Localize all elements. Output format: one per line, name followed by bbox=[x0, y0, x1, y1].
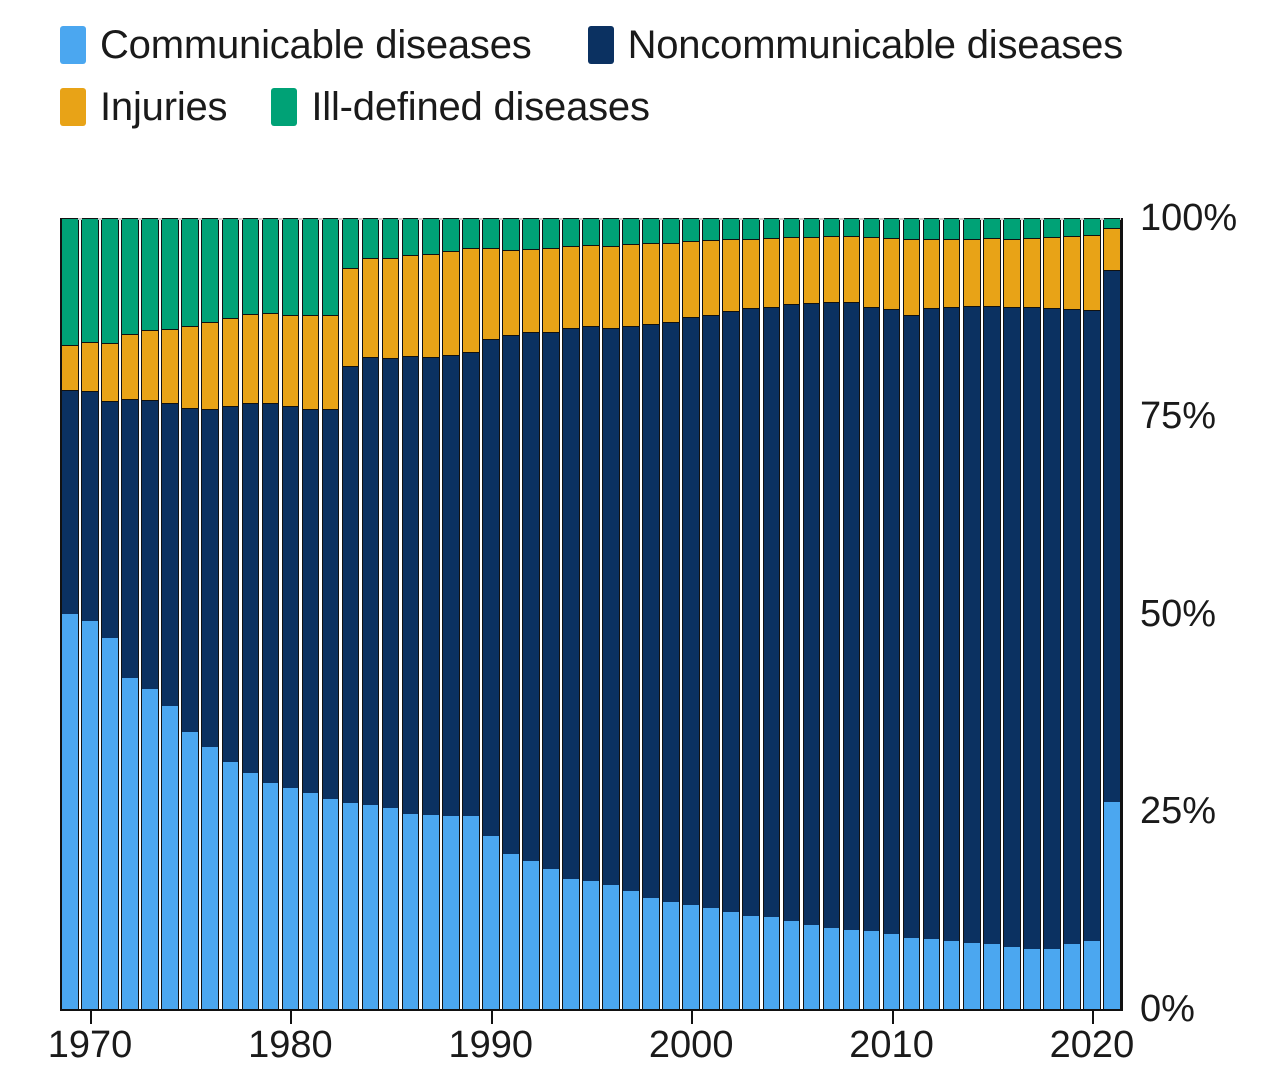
bar-2002[interactable] bbox=[722, 220, 740, 1009]
bar-2011[interactable] bbox=[903, 220, 921, 1009]
bar-segment-injuries bbox=[1044, 237, 1060, 308]
bar-segment-noncommunicable-diseases bbox=[663, 322, 679, 902]
x-tick-label-2000: 2000 bbox=[649, 1026, 734, 1064]
x-tick-label-2020: 2020 bbox=[1050, 1026, 1135, 1064]
bar-1987[interactable] bbox=[422, 220, 440, 1009]
bar-segment-injuries bbox=[683, 241, 699, 317]
bar-segment-injuries bbox=[523, 249, 539, 332]
bar-2009[interactable] bbox=[863, 220, 881, 1009]
bar-segment-injuries bbox=[1064, 236, 1080, 309]
bar-segment-noncommunicable-diseases bbox=[162, 403, 178, 706]
bar-1980[interactable] bbox=[282, 220, 300, 1009]
bar-1979[interactable] bbox=[262, 220, 280, 1009]
bar-segment-noncommunicable-diseases bbox=[122, 399, 138, 677]
bar-1994[interactable] bbox=[562, 220, 580, 1009]
bar-segment-ill-defined-diseases bbox=[323, 218, 339, 315]
bar-1976[interactable] bbox=[201, 220, 219, 1009]
bar-segment-injuries bbox=[142, 330, 158, 400]
bar-segment-noncommunicable-diseases bbox=[944, 307, 960, 941]
bar-segment-ill-defined-diseases bbox=[864, 218, 880, 237]
bar-segment-noncommunicable-diseases bbox=[784, 304, 800, 921]
bar-2014[interactable] bbox=[963, 220, 981, 1009]
bar-segment-injuries bbox=[283, 315, 299, 407]
bar-segment-noncommunicable-diseases bbox=[443, 355, 459, 816]
bar-segment-injuries bbox=[202, 322, 218, 409]
bar-segment-noncommunicable-diseases bbox=[182, 408, 198, 732]
bar-segment-noncommunicable-diseases bbox=[202, 409, 218, 747]
bar-segment-communicable-diseases bbox=[363, 805, 379, 1009]
bar-segment-communicable-diseases bbox=[523, 861, 539, 1009]
bar-segment-ill-defined-diseases bbox=[243, 218, 259, 314]
bar-segment-communicable-diseases bbox=[904, 938, 920, 1009]
bar-segment-communicable-diseases bbox=[263, 783, 279, 1009]
bar-segment-ill-defined-diseases bbox=[984, 218, 1000, 238]
bar-segment-ill-defined-diseases bbox=[904, 218, 920, 239]
bar-segment-ill-defined-diseases bbox=[663, 218, 679, 243]
bar-segment-injuries bbox=[383, 258, 399, 358]
bar-segment-injuries bbox=[423, 254, 439, 357]
bar-segment-ill-defined-diseases bbox=[202, 218, 218, 322]
bar-segment-injuries bbox=[343, 268, 359, 366]
bar-segment-communicable-diseases bbox=[623, 891, 639, 1009]
bar-segment-noncommunicable-diseases bbox=[703, 315, 719, 908]
x-tick-label-1970: 1970 bbox=[48, 1026, 133, 1064]
bar-segment-noncommunicable-diseases bbox=[764, 307, 780, 918]
bar-segment-noncommunicable-diseases bbox=[1064, 309, 1080, 944]
bar-segment-injuries bbox=[603, 246, 619, 328]
bar-segment-ill-defined-diseases bbox=[824, 218, 840, 236]
bar-segment-noncommunicable-diseases bbox=[864, 307, 880, 932]
bar-2001[interactable] bbox=[702, 220, 720, 1009]
bar-segment-injuries bbox=[182, 326, 198, 408]
bar-segment-noncommunicable-diseases bbox=[283, 406, 299, 787]
x-tick-1990 bbox=[491, 1011, 493, 1024]
bar-segment-communicable-diseases bbox=[683, 905, 699, 1009]
bar-segment-injuries bbox=[1024, 238, 1040, 307]
bar-segment-noncommunicable-diseases bbox=[924, 308, 940, 939]
bar-segment-communicable-diseases bbox=[283, 788, 299, 1009]
bar-segment-ill-defined-diseases bbox=[363, 218, 379, 258]
bar-segment-injuries bbox=[884, 238, 900, 309]
bar-1972[interactable] bbox=[121, 220, 139, 1009]
bar-segment-communicable-diseases bbox=[423, 815, 439, 1009]
bar-segment-ill-defined-diseases bbox=[1044, 218, 1060, 237]
bar-1971[interactable] bbox=[101, 220, 119, 1009]
bar-segment-communicable-diseases bbox=[403, 814, 419, 1009]
bar-segment-injuries bbox=[463, 248, 479, 352]
bar-segment-communicable-diseases bbox=[743, 916, 759, 1009]
bar-segment-ill-defined-diseases bbox=[403, 218, 419, 255]
bar-segment-communicable-diseases bbox=[824, 928, 840, 1009]
bar-2017[interactable] bbox=[1023, 220, 1041, 1009]
bar-segment-communicable-diseases bbox=[443, 816, 459, 1009]
y-tick-label-75: 75% bbox=[1140, 397, 1216, 435]
bar-segment-noncommunicable-diseases bbox=[884, 309, 900, 934]
bar-segment-communicable-diseases bbox=[603, 885, 619, 1009]
bar-segment-noncommunicable-diseases bbox=[1104, 270, 1120, 802]
bar-segment-communicable-diseases bbox=[323, 799, 339, 1009]
bar-segment-injuries bbox=[243, 314, 259, 403]
bar-segment-noncommunicable-diseases bbox=[463, 352, 479, 816]
bar-segment-communicable-diseases bbox=[162, 706, 178, 1009]
bar-segment-noncommunicable-diseases bbox=[263, 403, 279, 783]
bar-segment-communicable-diseases bbox=[1084, 941, 1100, 1009]
bar-segment-communicable-diseases bbox=[1024, 949, 1040, 1009]
bar-1981[interactable] bbox=[302, 220, 320, 1009]
bar-segment-ill-defined-diseases bbox=[82, 218, 98, 342]
bar-segment-ill-defined-diseases bbox=[383, 218, 399, 258]
bar-1986[interactable] bbox=[402, 220, 420, 1009]
bar-segment-ill-defined-diseases bbox=[743, 218, 759, 239]
bar-segment-ill-defined-diseases bbox=[122, 218, 138, 334]
bar-segment-ill-defined-diseases bbox=[223, 218, 239, 318]
bar-segment-injuries bbox=[844, 236, 860, 302]
bar-segment-ill-defined-diseases bbox=[423, 218, 439, 254]
bar-1993[interactable] bbox=[542, 220, 560, 1009]
bar-segment-ill-defined-diseases bbox=[503, 218, 519, 250]
bar-1978[interactable] bbox=[242, 220, 260, 1009]
bar-segment-noncommunicable-diseases bbox=[363, 357, 379, 805]
bar-segment-communicable-diseases bbox=[142, 689, 158, 1009]
bar-segment-ill-defined-diseases bbox=[142, 218, 158, 330]
bar-segment-noncommunicable-diseases bbox=[844, 302, 860, 930]
bar-2005[interactable] bbox=[783, 220, 801, 1009]
bar-segment-noncommunicable-diseases bbox=[904, 315, 920, 938]
bar-segment-noncommunicable-diseases bbox=[603, 328, 619, 885]
bar-segment-injuries bbox=[583, 245, 599, 326]
bar-segment-ill-defined-diseases bbox=[844, 218, 860, 236]
bar-segment-ill-defined-diseases bbox=[563, 218, 579, 246]
bar-segment-injuries bbox=[303, 315, 319, 408]
bar-segment-ill-defined-diseases bbox=[1064, 218, 1080, 236]
bar-segment-injuries bbox=[503, 250, 519, 335]
bar-segment-noncommunicable-diseases bbox=[1044, 308, 1060, 949]
bar-2018[interactable] bbox=[1043, 220, 1061, 1009]
bar-segment-injuries bbox=[944, 239, 960, 307]
bar-1998[interactable] bbox=[642, 220, 660, 1009]
bar-1991[interactable] bbox=[502, 220, 520, 1009]
bar-segment-noncommunicable-diseases bbox=[563, 328, 579, 879]
bar-segment-ill-defined-diseases bbox=[343, 218, 359, 268]
bar-segment-ill-defined-diseases bbox=[784, 218, 800, 237]
y-tick-label-100: 100% bbox=[1140, 199, 1237, 237]
bar-segment-communicable-diseases bbox=[984, 944, 1000, 1009]
bar-1983[interactable] bbox=[342, 220, 360, 1009]
bar-1969[interactable] bbox=[61, 220, 79, 1009]
bar-segment-noncommunicable-diseases bbox=[82, 391, 98, 620]
bar-segment-injuries bbox=[764, 238, 780, 307]
bar-segment-noncommunicable-diseases bbox=[423, 357, 439, 815]
bar-segment-communicable-diseases bbox=[62, 614, 78, 1010]
bar-segment-injuries bbox=[82, 342, 98, 391]
bar-2007[interactable] bbox=[823, 220, 841, 1009]
bar-segment-injuries bbox=[1004, 239, 1020, 307]
bar-segment-ill-defined-diseases bbox=[683, 218, 699, 241]
bar-segment-noncommunicable-diseases bbox=[824, 302, 840, 928]
bar-1999[interactable] bbox=[662, 220, 680, 1009]
bar-segment-ill-defined-diseases bbox=[483, 218, 499, 248]
bar-segment-noncommunicable-diseases bbox=[1024, 307, 1040, 949]
bar-1975[interactable] bbox=[181, 220, 199, 1009]
bar-segment-communicable-diseases bbox=[844, 930, 860, 1009]
bar-segment-noncommunicable-diseases bbox=[804, 303, 820, 925]
bar-segment-noncommunicable-diseases bbox=[483, 339, 499, 836]
y-axis-line bbox=[60, 218, 62, 1011]
bar-1984[interactable] bbox=[362, 220, 380, 1009]
bar-segment-noncommunicable-diseases bbox=[62, 390, 78, 613]
bar-segment-injuries bbox=[623, 244, 639, 325]
bar-segment-ill-defined-diseases bbox=[162, 218, 178, 329]
y-axis-line-right bbox=[1121, 218, 1123, 1011]
bar-2000[interactable] bbox=[682, 220, 700, 1009]
bar-segment-ill-defined-diseases bbox=[182, 218, 198, 326]
bar-segment-communicable-diseases bbox=[223, 762, 239, 1009]
bar-1995[interactable] bbox=[582, 220, 600, 1009]
bar-segment-noncommunicable-diseases bbox=[643, 324, 659, 898]
bar-segment-injuries bbox=[864, 237, 880, 307]
x-tick-label-1990: 1990 bbox=[449, 1026, 534, 1064]
bar-segment-communicable-diseases bbox=[643, 898, 659, 1009]
bar-segment-injuries bbox=[223, 318, 239, 406]
bar-segment-ill-defined-diseases bbox=[944, 218, 960, 239]
bar-segment-ill-defined-diseases bbox=[884, 218, 900, 238]
bar-segment-injuries bbox=[904, 239, 920, 315]
bar-segment-injuries bbox=[122, 334, 138, 399]
bar-segment-communicable-diseases bbox=[463, 816, 479, 1009]
bar-segment-injuries bbox=[263, 313, 279, 403]
bar-2004[interactable] bbox=[763, 220, 781, 1009]
bar-segment-communicable-diseases bbox=[944, 941, 960, 1009]
x-tick-label-1980: 1980 bbox=[248, 1026, 333, 1064]
bar-segment-communicable-diseases bbox=[202, 747, 218, 1009]
bar-segment-communicable-diseases bbox=[964, 943, 980, 1009]
plot-wrapper: 197019801990200020102020 0%25%50%75%100% bbox=[0, 0, 1281, 1081]
bar-segment-ill-defined-diseases bbox=[1104, 218, 1120, 227]
bar-segment-ill-defined-diseases bbox=[102, 218, 118, 343]
bar-1989[interactable] bbox=[462, 220, 480, 1009]
bar-segment-injuries bbox=[162, 329, 178, 403]
bar-segment-communicable-diseases bbox=[924, 939, 940, 1009]
bar-segment-injuries bbox=[543, 248, 559, 332]
bar-segment-injuries bbox=[363, 258, 379, 357]
bar-segment-ill-defined-diseases bbox=[603, 218, 619, 246]
bar-segment-ill-defined-diseases bbox=[303, 218, 319, 315]
bar-segment-injuries bbox=[1084, 235, 1100, 309]
bar-segment-ill-defined-diseases bbox=[703, 218, 719, 240]
bar-segment-communicable-diseases bbox=[723, 912, 739, 1009]
bar-segment-injuries bbox=[703, 240, 719, 314]
bar-segment-noncommunicable-diseases bbox=[583, 326, 599, 880]
bar-segment-injuries bbox=[102, 343, 118, 401]
bar-segment-injuries bbox=[323, 315, 339, 410]
bar-segment-noncommunicable-diseases bbox=[683, 317, 699, 906]
y-tick-label-50: 50% bbox=[1140, 595, 1216, 633]
bar-segment-noncommunicable-diseases bbox=[523, 332, 539, 861]
bar-segment-ill-defined-diseases bbox=[1024, 218, 1040, 238]
bar-segment-injuries bbox=[563, 246, 579, 328]
bar-segment-ill-defined-diseases bbox=[1004, 218, 1020, 239]
bar-2010[interactable] bbox=[883, 220, 901, 1009]
bar-segment-injuries bbox=[403, 255, 419, 355]
bar-segment-noncommunicable-diseases bbox=[743, 308, 759, 915]
bar-segment-communicable-diseases bbox=[784, 921, 800, 1009]
bar-segment-communicable-diseases bbox=[383, 808, 399, 1009]
bar-1974[interactable] bbox=[161, 220, 179, 1009]
bar-segment-communicable-diseases bbox=[1004, 947, 1020, 1009]
x-axis-line bbox=[60, 1009, 1123, 1011]
bar-segment-ill-defined-diseases bbox=[62, 218, 78, 345]
bar-1977[interactable] bbox=[222, 220, 240, 1009]
bar-segment-noncommunicable-diseases bbox=[503, 335, 519, 854]
bar-1973[interactable] bbox=[141, 220, 159, 1009]
bar-2013[interactable] bbox=[943, 220, 961, 1009]
bar-segment-ill-defined-diseases bbox=[764, 218, 780, 238]
bar-segment-noncommunicable-diseases bbox=[1004, 307, 1020, 948]
bar-segment-injuries bbox=[743, 239, 759, 309]
bar-segment-communicable-diseases bbox=[82, 621, 98, 1009]
bar-segment-ill-defined-diseases bbox=[263, 218, 279, 313]
bar-segment-injuries bbox=[924, 239, 940, 309]
bar-1988[interactable] bbox=[442, 220, 460, 1009]
bar-1997[interactable] bbox=[622, 220, 640, 1009]
bar-2008[interactable] bbox=[843, 220, 861, 1009]
x-tick-2010 bbox=[892, 1011, 894, 1024]
bar-segment-ill-defined-diseases bbox=[643, 218, 659, 243]
bar-segment-noncommunicable-diseases bbox=[303, 409, 319, 793]
y-tick-label-0: 0% bbox=[1140, 990, 1195, 1028]
bar-segment-communicable-diseases bbox=[864, 931, 880, 1009]
bar-segment-communicable-diseases bbox=[663, 902, 679, 1009]
bar-segment-communicable-diseases bbox=[303, 793, 319, 1009]
bar-segment-ill-defined-diseases bbox=[1084, 218, 1100, 235]
bar-segment-injuries bbox=[964, 239, 980, 306]
bar-2012[interactable] bbox=[923, 220, 941, 1009]
bar-segment-communicable-diseases bbox=[1044, 949, 1060, 1009]
bar-segment-injuries bbox=[723, 239, 739, 311]
bar-segment-injuries bbox=[643, 243, 659, 324]
bar-segment-communicable-diseases bbox=[583, 881, 599, 1009]
bar-segment-communicable-diseases bbox=[764, 917, 780, 1009]
bar-2020[interactable] bbox=[1083, 220, 1101, 1009]
bar-segment-noncommunicable-diseases bbox=[243, 403, 259, 773]
bar-2016[interactable] bbox=[1003, 220, 1021, 1009]
bar-segment-communicable-diseases bbox=[804, 925, 820, 1009]
bar-segment-communicable-diseases bbox=[1104, 802, 1120, 1009]
bar-segment-injuries bbox=[804, 237, 820, 303]
bar-segment-noncommunicable-diseases bbox=[142, 400, 158, 690]
bar-segment-communicable-diseases bbox=[122, 678, 138, 1009]
bar-segment-communicable-diseases bbox=[243, 773, 259, 1009]
bar-segment-communicable-diseases bbox=[543, 869, 559, 1009]
x-tick-1970 bbox=[90, 1011, 92, 1024]
bar-segment-noncommunicable-diseases bbox=[1084, 310, 1100, 941]
x-tick-1980 bbox=[290, 1011, 292, 1024]
bar-1996[interactable] bbox=[602, 220, 620, 1009]
bar-1990[interactable] bbox=[482, 220, 500, 1009]
bar-segment-injuries bbox=[784, 237, 800, 304]
bar-segment-injuries bbox=[663, 243, 679, 323]
bar-1985[interactable] bbox=[382, 220, 400, 1009]
bar-segment-injuries bbox=[1104, 228, 1120, 271]
bar-2021[interactable] bbox=[1103, 220, 1121, 1009]
bar-segment-noncommunicable-diseases bbox=[383, 358, 399, 808]
bar-segment-noncommunicable-diseases bbox=[723, 311, 739, 911]
bar-segment-ill-defined-diseases bbox=[623, 218, 639, 244]
bar-segment-ill-defined-diseases bbox=[543, 218, 559, 248]
bar-segment-communicable-diseases bbox=[884, 934, 900, 1009]
bar-segment-communicable-diseases bbox=[182, 732, 198, 1009]
bar-segment-noncommunicable-diseases bbox=[223, 406, 239, 762]
bar-2006[interactable] bbox=[803, 220, 821, 1009]
bar-segment-injuries bbox=[483, 248, 499, 339]
bar-segment-noncommunicable-diseases bbox=[343, 366, 359, 803]
bar-1992[interactable] bbox=[522, 220, 540, 1009]
bar-segment-ill-defined-diseases bbox=[443, 218, 459, 251]
bar-segment-injuries bbox=[824, 236, 840, 302]
bar-segment-noncommunicable-diseases bbox=[964, 306, 980, 943]
bar-segment-communicable-diseases bbox=[563, 879, 579, 1010]
bar-2015[interactable] bbox=[983, 220, 1001, 1009]
bar-segment-noncommunicable-diseases bbox=[323, 409, 339, 799]
bar-segment-noncommunicable-diseases bbox=[543, 332, 559, 869]
bar-segment-ill-defined-diseases bbox=[804, 218, 820, 237]
bar-segment-communicable-diseases bbox=[503, 854, 519, 1009]
bar-segment-ill-defined-diseases bbox=[924, 218, 940, 239]
bar-segment-communicable-diseases bbox=[102, 638, 118, 1009]
bar-segment-ill-defined-diseases bbox=[463, 218, 479, 248]
bar-segment-noncommunicable-diseases bbox=[623, 326, 639, 892]
bar-segment-injuries bbox=[443, 251, 459, 355]
bar-segment-ill-defined-diseases bbox=[723, 218, 739, 239]
bar-segment-communicable-diseases bbox=[703, 908, 719, 1009]
bar-2003[interactable] bbox=[742, 220, 760, 1009]
bar-segment-injuries bbox=[984, 238, 1000, 306]
bar-segment-noncommunicable-diseases bbox=[403, 356, 419, 815]
x-tick-2000 bbox=[691, 1011, 693, 1024]
bar-segment-ill-defined-diseases bbox=[964, 218, 980, 239]
x-tick-2020 bbox=[1092, 1011, 1094, 1024]
bar-segment-noncommunicable-diseases bbox=[984, 306, 1000, 944]
bar-segment-communicable-diseases bbox=[1064, 944, 1080, 1009]
y-tick-label-25: 25% bbox=[1140, 792, 1216, 830]
stacked-bar-plot-area bbox=[60, 218, 1122, 1009]
bar-segment-communicable-diseases bbox=[343, 803, 359, 1009]
chart-root: Communicable diseases Noncommunicable di… bbox=[0, 0, 1281, 1081]
bar-segment-communicable-diseases bbox=[483, 836, 499, 1009]
bar-segment-ill-defined-diseases bbox=[523, 218, 539, 249]
bar-1970[interactable] bbox=[81, 220, 99, 1009]
bar-2019[interactable] bbox=[1063, 220, 1081, 1009]
bar-segment-noncommunicable-diseases bbox=[102, 401, 118, 638]
bar-segment-ill-defined-diseases bbox=[283, 218, 299, 315]
bar-1982[interactable] bbox=[322, 220, 340, 1009]
x-tick-label-2010: 2010 bbox=[849, 1026, 934, 1064]
bar-segment-ill-defined-diseases bbox=[583, 218, 599, 245]
bar-segment-injuries bbox=[62, 345, 78, 391]
